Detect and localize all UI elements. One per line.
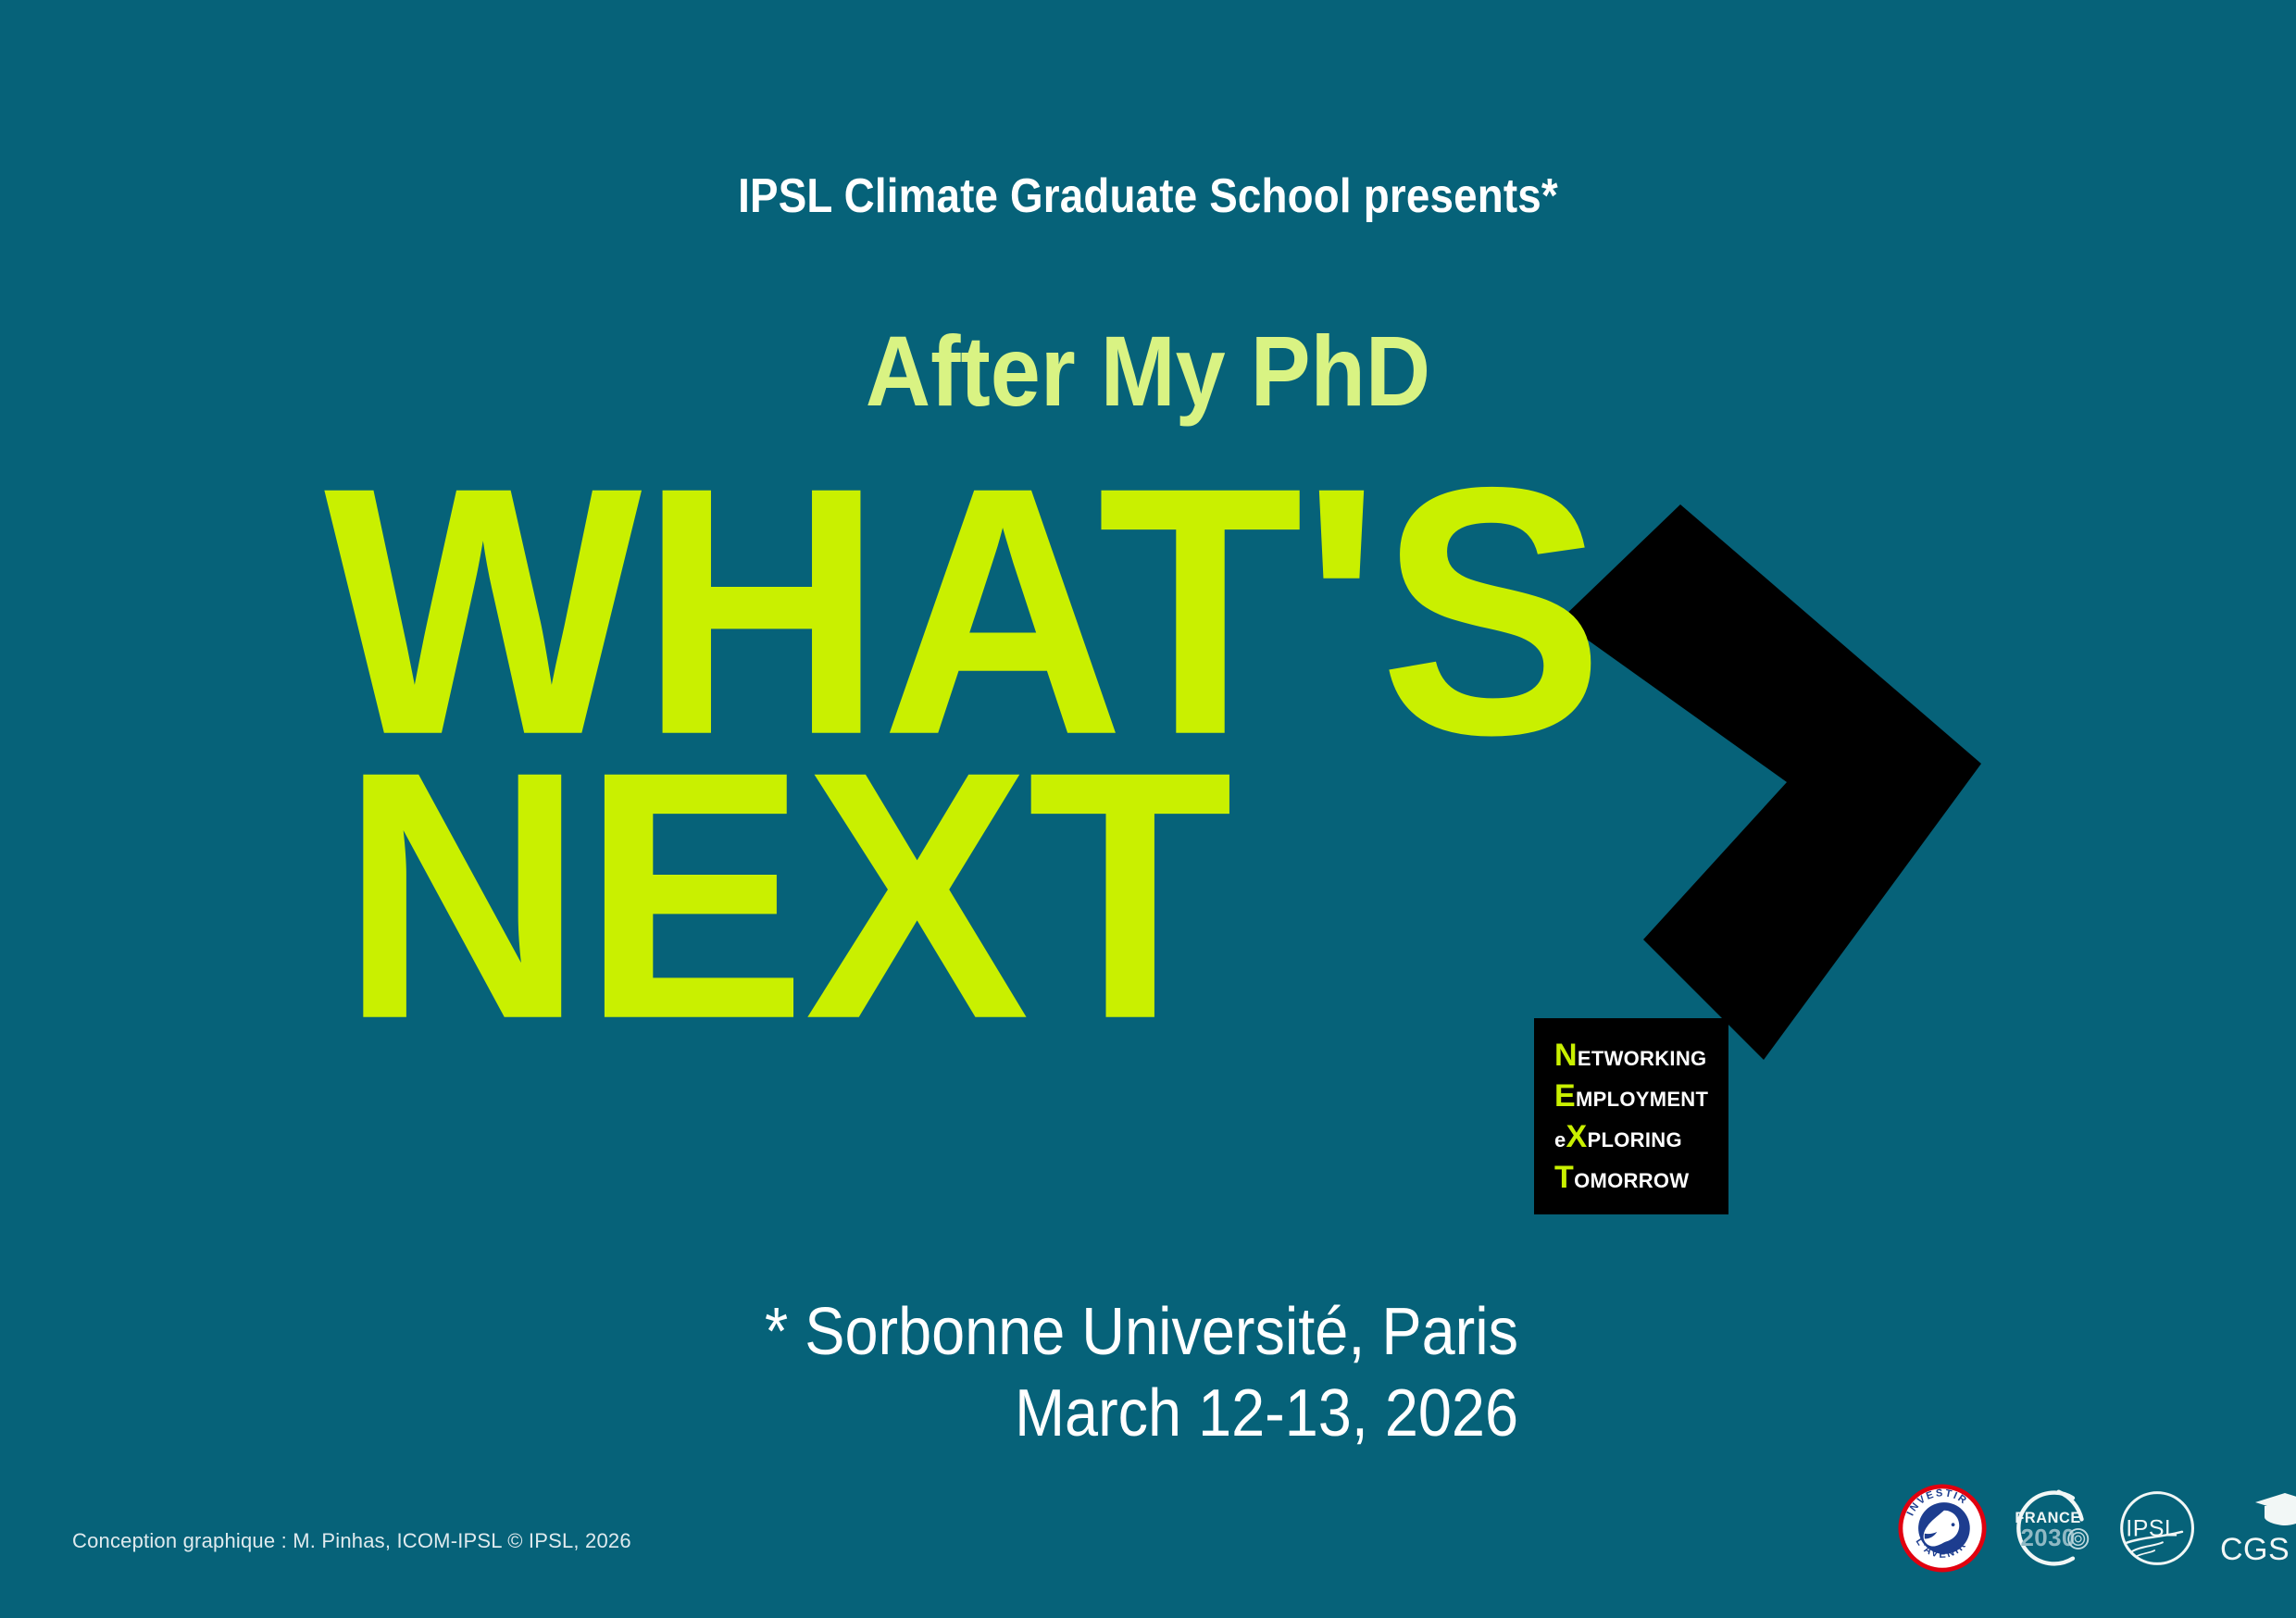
- presenter-line: IPSL Climate Graduate School presents*: [138, 168, 2158, 224]
- poster-canvas: IPSL Climate Graduate School presents* A…: [0, 0, 2296, 1618]
- acronym-row-exploring: eXPLORING: [1554, 1121, 1728, 1152]
- design-credit: Conception graphique : M. Pinhas, ICOM-I…: [72, 1529, 631, 1553]
- subtitle-after-my-phd: After My PhD: [115, 313, 2181, 429]
- logo-row: INVESTIR L'AVENIR FRANCE 2030 IPSL: [1898, 1477, 2268, 1579]
- france-2030-year-text: 2030: [2020, 1525, 2075, 1551]
- event-dates: March 12-13, 2026: [152, 1375, 1518, 1451]
- investir-lavenir-logo: INVESTIR L'AVENIR: [1898, 1484, 1987, 1573]
- acronym-row-networking: NETWORKING: [1554, 1039, 1728, 1071]
- acronym-capital: N: [1554, 1039, 1578, 1071]
- acronym-capital: E: [1554, 1080, 1576, 1112]
- acronym-rest: PLORING: [1588, 1130, 1682, 1151]
- acronym-rest: MPLOYMENT: [1576, 1089, 1708, 1110]
- ipsl-logo: IPSL: [2113, 1484, 2205, 1573]
- acronym-capital: X: [1566, 1121, 1588, 1152]
- cgs-logo-svg: CGS: [2211, 1484, 2296, 1573]
- france-2030-logo: FRANCE 2030: [2003, 1484, 2096, 1573]
- acronym-rest: OMORROW: [1574, 1171, 1689, 1191]
- acronym-capital: T: [1554, 1162, 1574, 1193]
- title-line-next: NEXT: [341, 752, 1630, 1040]
- graduation-cap-icon: [2255, 1493, 2296, 1525]
- page-title: WHAT'S NEXT: [324, 467, 1546, 1010]
- acronym-rest: ETWORKING: [1578, 1049, 1707, 1069]
- acronym-row-tomorrow: TOMORROW: [1554, 1162, 1728, 1193]
- event-venue: * Sorbonne Université, Paris: [152, 1294, 1518, 1370]
- next-acronym-box: NETWORKING EMPLOYMENT eXPLORING TOMORROW: [1534, 1018, 1728, 1214]
- france-2030-top-text: FRANCE: [2015, 1510, 2080, 1526]
- cgs-logo: CGS: [2211, 1484, 2296, 1573]
- cgs-wordmark: CGS: [2220, 1532, 2290, 1567]
- acronym-prefix: e: [1554, 1130, 1566, 1151]
- acronym-row-employment: EMPLOYMENT: [1554, 1080, 1728, 1112]
